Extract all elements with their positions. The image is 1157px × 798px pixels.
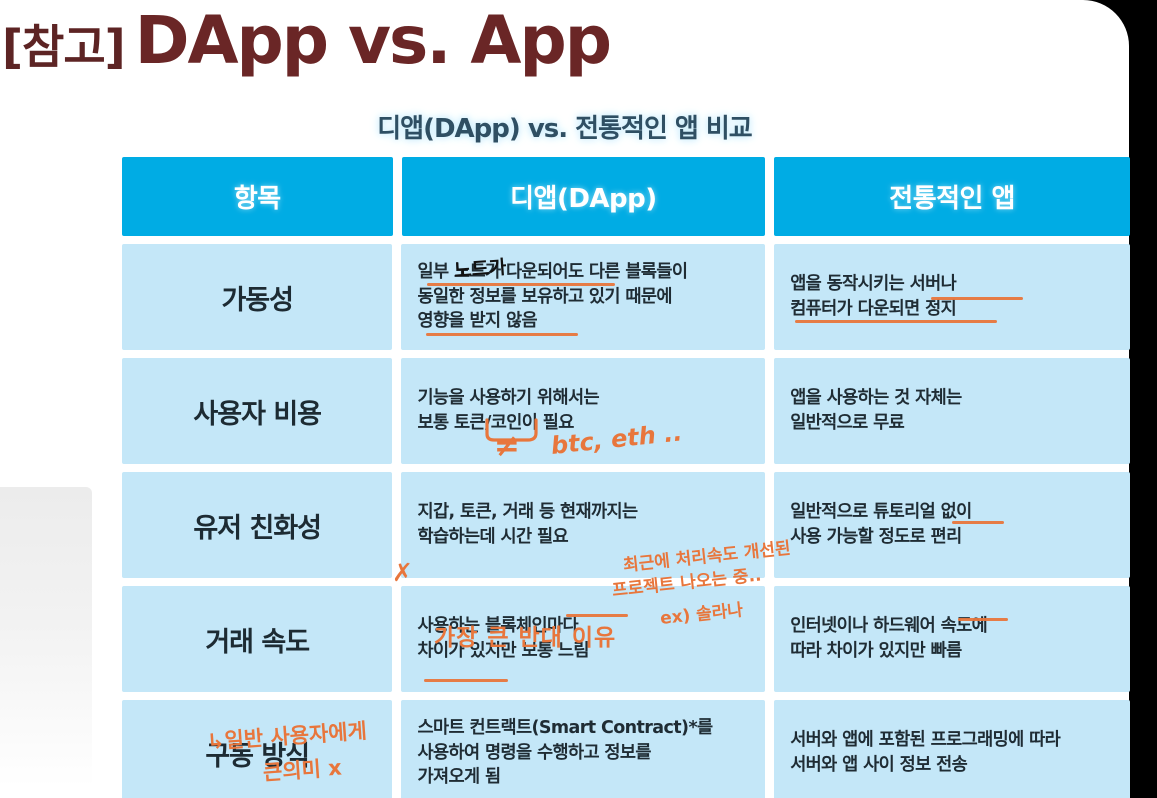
cell-line: 일반적으로 무료 xyxy=(790,411,961,436)
cell-legacy-transaction-speed: 인터넷이나 하드웨어 속도에 따라 차이가 있지만 빠름 xyxy=(774,586,1130,692)
cell-line: 영향을 받지 않음 xyxy=(417,309,687,334)
cell-legacy-user-friendliness: 일반적으로 튜토리얼 없이 사용 가능할 정도로 편리 xyxy=(774,472,1130,578)
cell-dapp-operation-method: 스마트 컨트랙트(Smart Contract)*를 사용하여 명령을 수행하고… xyxy=(401,700,765,798)
table-row: 거래 속도 사용하는 블록체인마다 차이가 있지만 보통 느림 인터넷이나 하드… xyxy=(122,586,1130,692)
cell-line: 서버와 앱에 포함된 프로그래밍에 따라 xyxy=(790,728,1060,753)
cell-dapp-user-cost: 기능을 사용하기 위해서는 보통 토큰/코인이 필요 xyxy=(401,358,765,464)
cell-line: 스마트 컨트랙트(Smart Contract)*를 xyxy=(417,716,712,741)
table-header-dapp: 디앱(DApp) xyxy=(402,157,766,236)
table-row: 구동 방식 스마트 컨트랙트(Smart Contract)*를 사용하여 명령… xyxy=(122,700,1130,798)
cell-dapp-user-friendliness: 지갑, 토큰, 거래 등 현재까지는 학습하는데 시간 필요 xyxy=(401,472,765,578)
cell-line: 차이가 있지만 보통 느림 xyxy=(417,639,588,664)
screenshot-root: [참고] DApp vs. App 디앱(DApp) vs. 전통적인 앱 비교… xyxy=(0,0,1157,798)
cell-legacy-operation-method: 서버와 앱에 포함된 프로그래밍에 따라 서버와 앱 사이 정보 전송 xyxy=(774,700,1130,798)
cell-line: 앱을 동작시키는 서버나 xyxy=(790,272,956,297)
cell-line: 가져오게 됨 xyxy=(417,765,712,790)
subtitle: 디앱(DApp) vs. 전통적인 앱 비교 xyxy=(0,108,1129,145)
cell-line: 인터넷이나 하드웨어 속도에 xyxy=(790,614,987,639)
table-row: 가동성 일부 노드가 다운되어도 다른 블록들이 동일한 정보를 보유하고 있기… xyxy=(122,244,1130,350)
table-row: 사용자 비용 기능을 사용하기 위해서는 보통 토큰/코인이 필요 앱을 사용하… xyxy=(122,358,1130,464)
page-title: [참고] DApp vs. App xyxy=(2,8,610,77)
cell-line: 동일한 정보를 보유하고 있기 때문에 xyxy=(417,285,687,310)
cell-line: 컴퓨터가 다운되면 정지 xyxy=(790,297,956,322)
cell-line: 보통 토큰/코인이 필요 xyxy=(417,411,599,436)
table-row: 유저 친화성 지갑, 토큰, 거래 등 현재까지는 학습하는데 시간 필요 일반… xyxy=(122,472,1130,578)
row-label-availability: 가동성 xyxy=(122,244,392,350)
cell-line: 앱을 사용하는 것 자체는 xyxy=(790,386,961,411)
row-label-operation-method: 구동 방식 xyxy=(122,700,392,798)
cell-line: 사용하여 명령을 수행하고 정보를 xyxy=(417,741,712,766)
table-header-item: 항목 xyxy=(122,157,393,236)
cell-line: 학습하는데 시간 필요 xyxy=(417,525,637,550)
title-main: DApp vs. App xyxy=(135,8,610,74)
cell-line: 사용하는 블록체인마다 xyxy=(417,614,588,639)
row-label-user-friendliness: 유저 친화성 xyxy=(122,472,392,578)
cell-dapp-transaction-speed: 사용하는 블록체인마다 차이가 있지만 보통 느림 xyxy=(401,586,765,692)
row-label-transaction-speed: 거래 속도 xyxy=(122,586,392,692)
left-side-panel xyxy=(0,487,92,787)
cell-line: 따라 차이가 있지만 빠름 xyxy=(790,639,987,664)
cell-line: 서버와 앱 사이 정보 전송 xyxy=(790,753,1060,778)
title-prefix: [참고] xyxy=(2,11,125,77)
cell-line: 지갑, 토큰, 거래 등 현재까지는 xyxy=(417,500,637,525)
table-header-row: 항목 디앱(DApp) 전통적인 앱 xyxy=(122,157,1130,236)
cell-line: 사용 가능할 정도로 편리 xyxy=(790,525,972,550)
table-header-legacy: 전통적인 앱 xyxy=(774,157,1130,236)
cell-line: 일반적으로 튜토리얼 없이 xyxy=(790,500,972,525)
comparison-table: 항목 디앱(DApp) 전통적인 앱 가동성 일부 노드가 다운되어도 다른 블… xyxy=(122,157,1130,798)
cell-dapp-availability: 일부 노드가 다운되어도 다른 블록들이 동일한 정보를 보유하고 있기 때문에… xyxy=(401,244,765,350)
cell-line: 기능을 사용하기 위해서는 xyxy=(417,386,599,411)
cell-legacy-availability: 앱을 동작시키는 서버나 컴퓨터가 다운되면 정지 xyxy=(774,244,1130,350)
cell-line: 일부 노드가 다운되어도 다른 블록들이 xyxy=(417,260,687,285)
cell-legacy-user-cost: 앱을 사용하는 것 자체는 일반적으로 무료 xyxy=(774,358,1130,464)
row-label-user-cost: 사용자 비용 xyxy=(122,358,392,464)
